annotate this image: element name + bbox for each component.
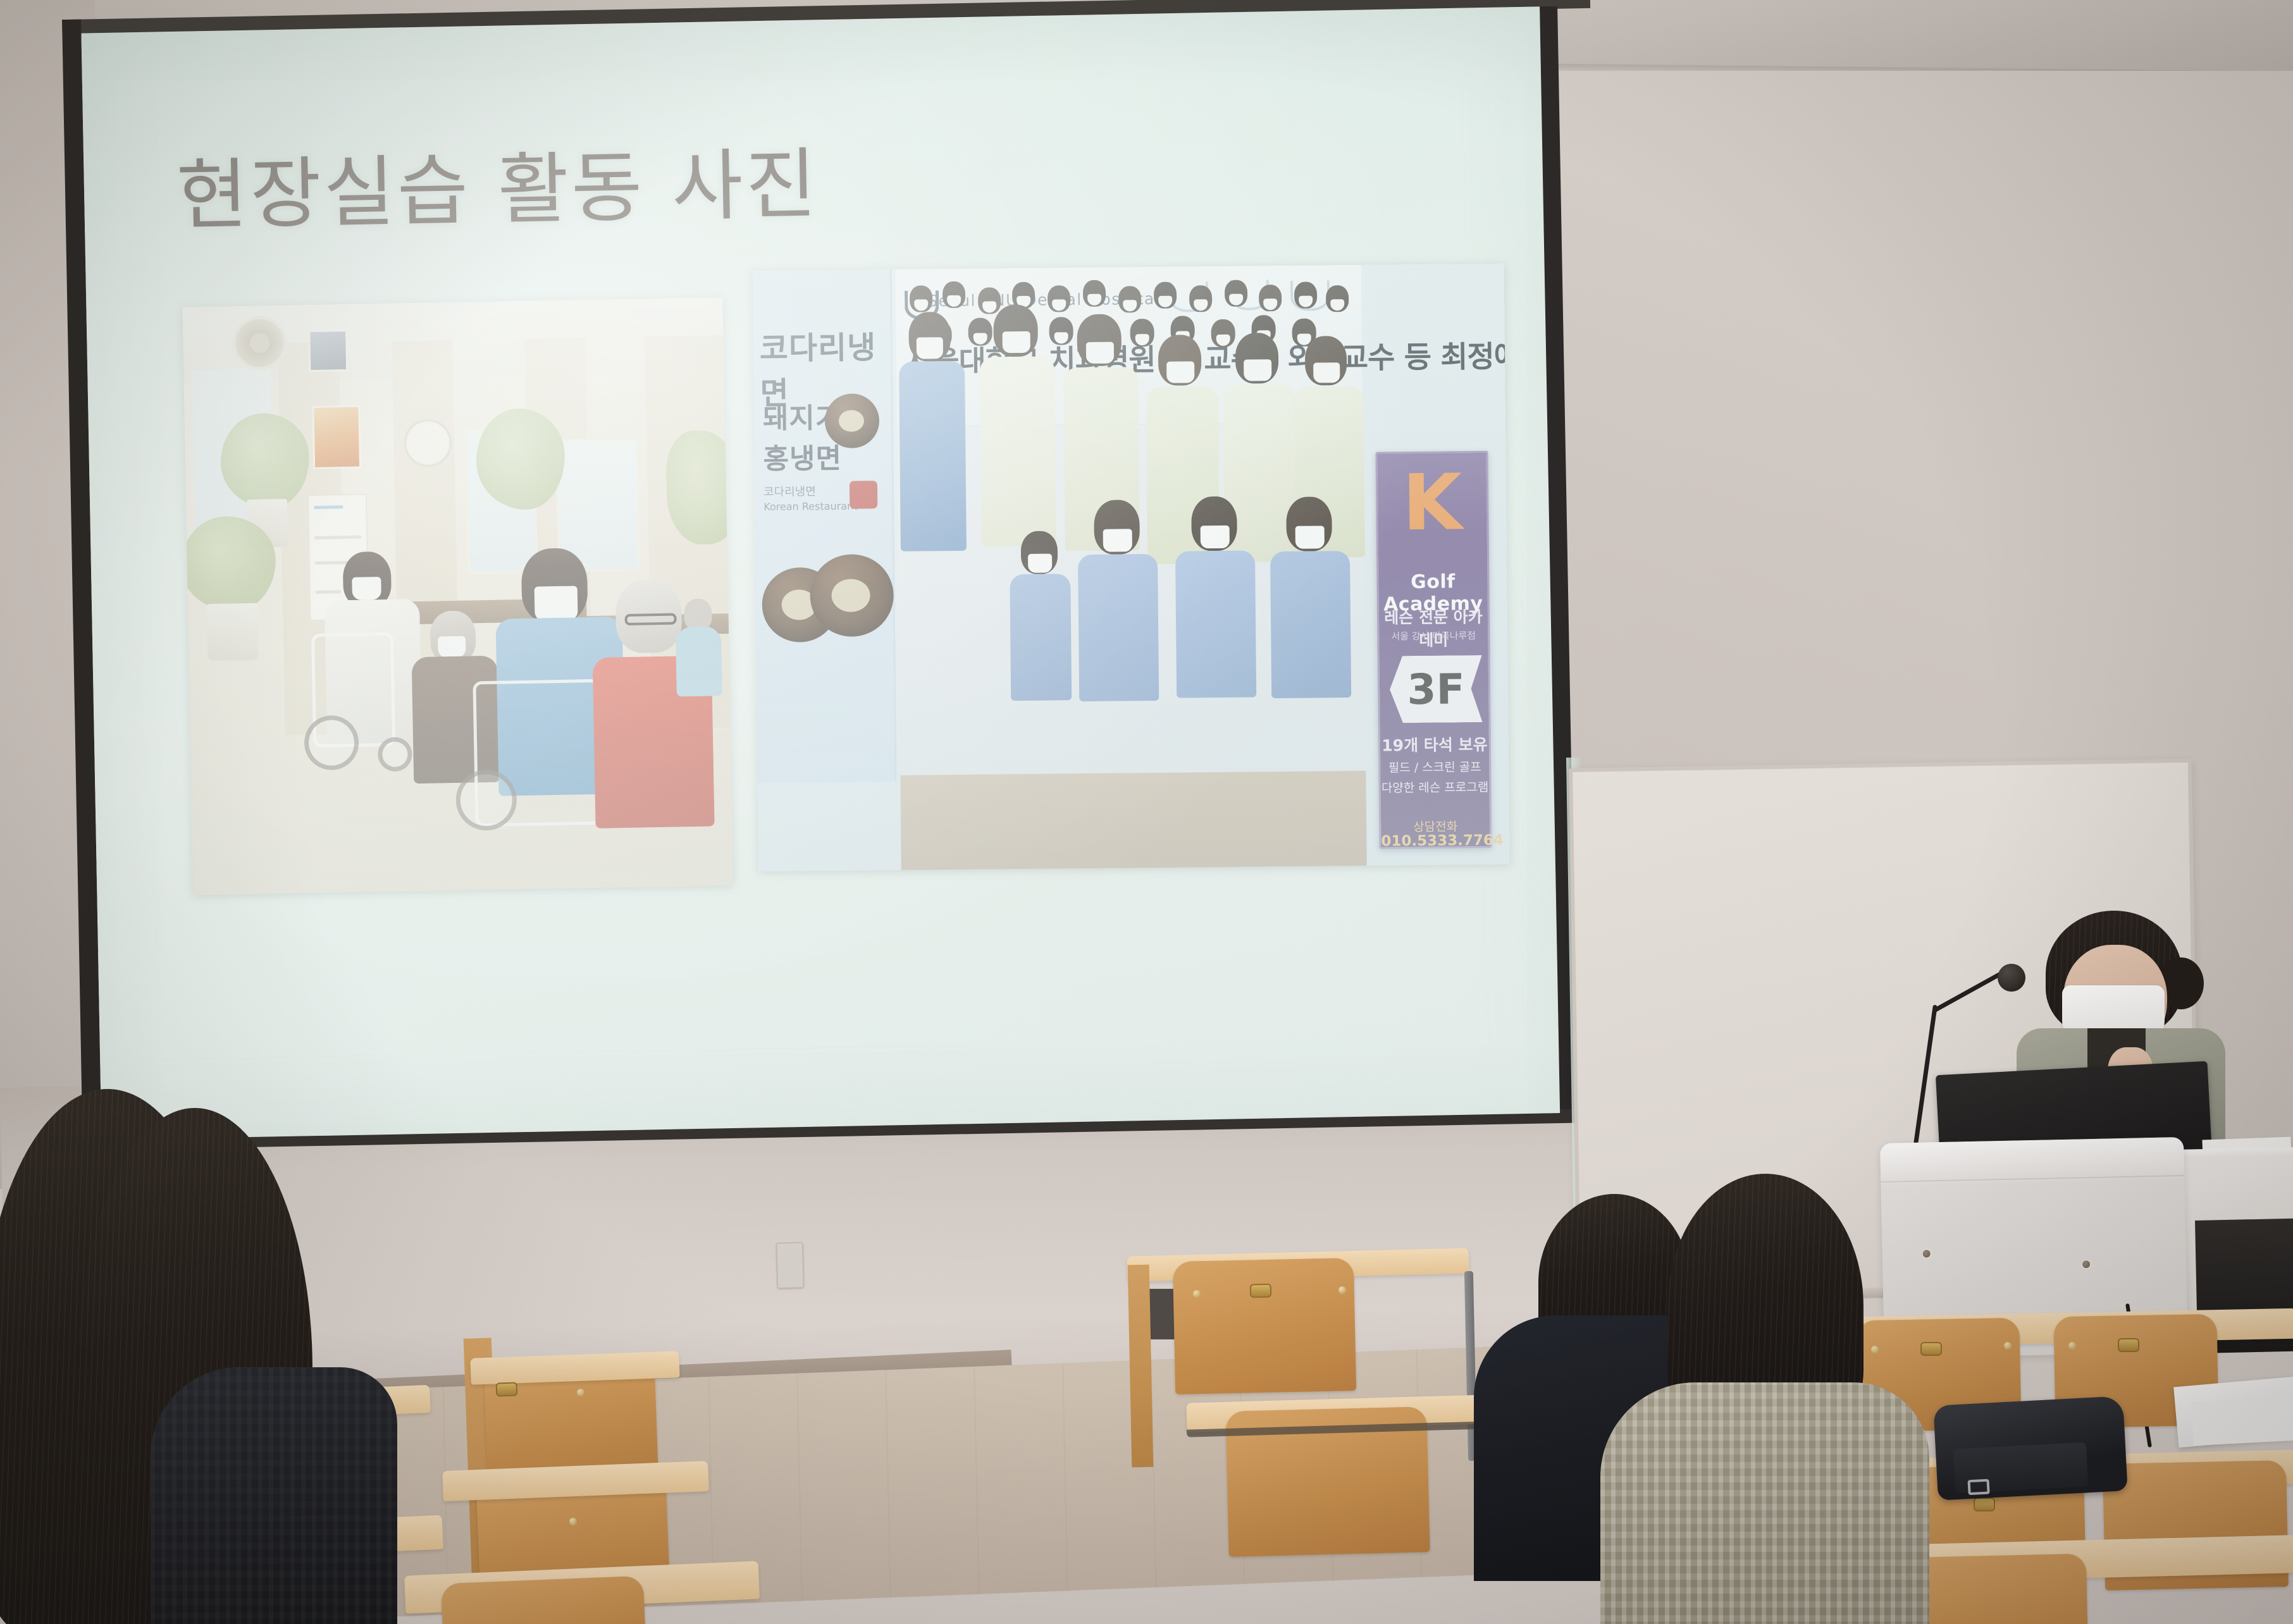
seat-stud <box>1193 1290 1201 1298</box>
noodle-shop-standee: 코다리냉면 돼지기밥 홍냉면 코다리냉면 Korean Restaurant <box>753 269 897 783</box>
wall-poster <box>308 329 348 372</box>
seat-stud <box>569 1518 577 1525</box>
noodle-footer-en: Korean Restaurant <box>763 500 857 512</box>
seat-stud <box>577 1389 584 1396</box>
wall-poster <box>312 405 361 469</box>
seat-stud <box>1871 1346 1879 1353</box>
eyeglasses-icon <box>624 613 676 625</box>
projection-surface: 현장실습 활동 사진 <box>81 6 1560 1140</box>
slide-title: 현장실습 활동 사진 <box>176 144 820 237</box>
noodle-bowl-image <box>825 393 880 448</box>
podium-screw <box>2081 1259 2091 1269</box>
golf-feature-2: 필드 / 스크린 골프 <box>1380 758 1489 776</box>
seat-stud <box>2068 1342 2076 1350</box>
slide-photo-right: 코다리냉면 돼지기밥 홍냉면 코다리냉면 Korean Restaurant S… <box>753 264 1510 871</box>
podium-top-lip <box>1880 1137 2184 1183</box>
potted-plant <box>665 430 733 545</box>
seat-stud <box>2004 1342 2012 1350</box>
golf-floor-badge: 3F <box>1390 655 1483 723</box>
golf-subtitle-small: 서울 강서 마곡나루점 <box>1379 629 1488 643</box>
shoulder-bag[interactable] <box>1933 1396 2127 1500</box>
golf-academy-sign: K Golf Academy 레슨 전문 아카데미 서울 강서 마곡나루점 3F… <box>1375 451 1492 849</box>
desk-latch[interactable] <box>2118 1338 2139 1352</box>
projector-screen-assembly: 현장실습 활동 사진 <box>33 0 1610 1156</box>
light-switch-plate[interactable] <box>776 1242 804 1288</box>
clinic-room-floor <box>900 771 1366 870</box>
bag-buckle <box>1967 1479 1989 1495</box>
seat-side-panel <box>1128 1265 1154 1468</box>
person-distant <box>676 626 722 696</box>
noodle-bowl-image <box>810 554 894 637</box>
slide-photo-left <box>182 297 733 895</box>
seat-stud <box>1338 1286 1346 1294</box>
noodle-footer-kr: 코다리냉면 <box>763 483 816 500</box>
golf-tel-number: 010.5333.7764 <box>1381 832 1490 850</box>
noodle-menu-2: 홍냉면 <box>763 436 842 477</box>
person-distant <box>684 598 712 631</box>
golf-floor-number: 3F <box>1407 665 1465 714</box>
plant-pot <box>207 603 259 661</box>
desk-latch[interactable] <box>1250 1284 1271 1298</box>
podium-screw <box>1922 1248 1932 1258</box>
desk-latch[interactable] <box>1920 1342 1942 1356</box>
golf-feature-3: 다양한 레슨 프로그램 <box>1380 778 1489 796</box>
desk-latch[interactable] <box>1974 1498 1995 1511</box>
lecture-hall-scene: 현장실습 활동 사진 <box>0 0 2293 1624</box>
seat-backrest[interactable] <box>1173 1258 1356 1394</box>
restaurant-logo-icon <box>850 481 877 508</box>
golf-feature-1: 19개 타석 보유 <box>1380 732 1489 756</box>
papers-on-desk[interactable] <box>2191 1396 2293 1446</box>
golf-subtitle-kr: 레슨 전문 아카데미 <box>1379 605 1488 651</box>
seat-backrest[interactable] <box>441 1576 647 1624</box>
golf-logo-letter: K <box>1378 468 1487 538</box>
desk-latch[interactable] <box>496 1382 518 1396</box>
